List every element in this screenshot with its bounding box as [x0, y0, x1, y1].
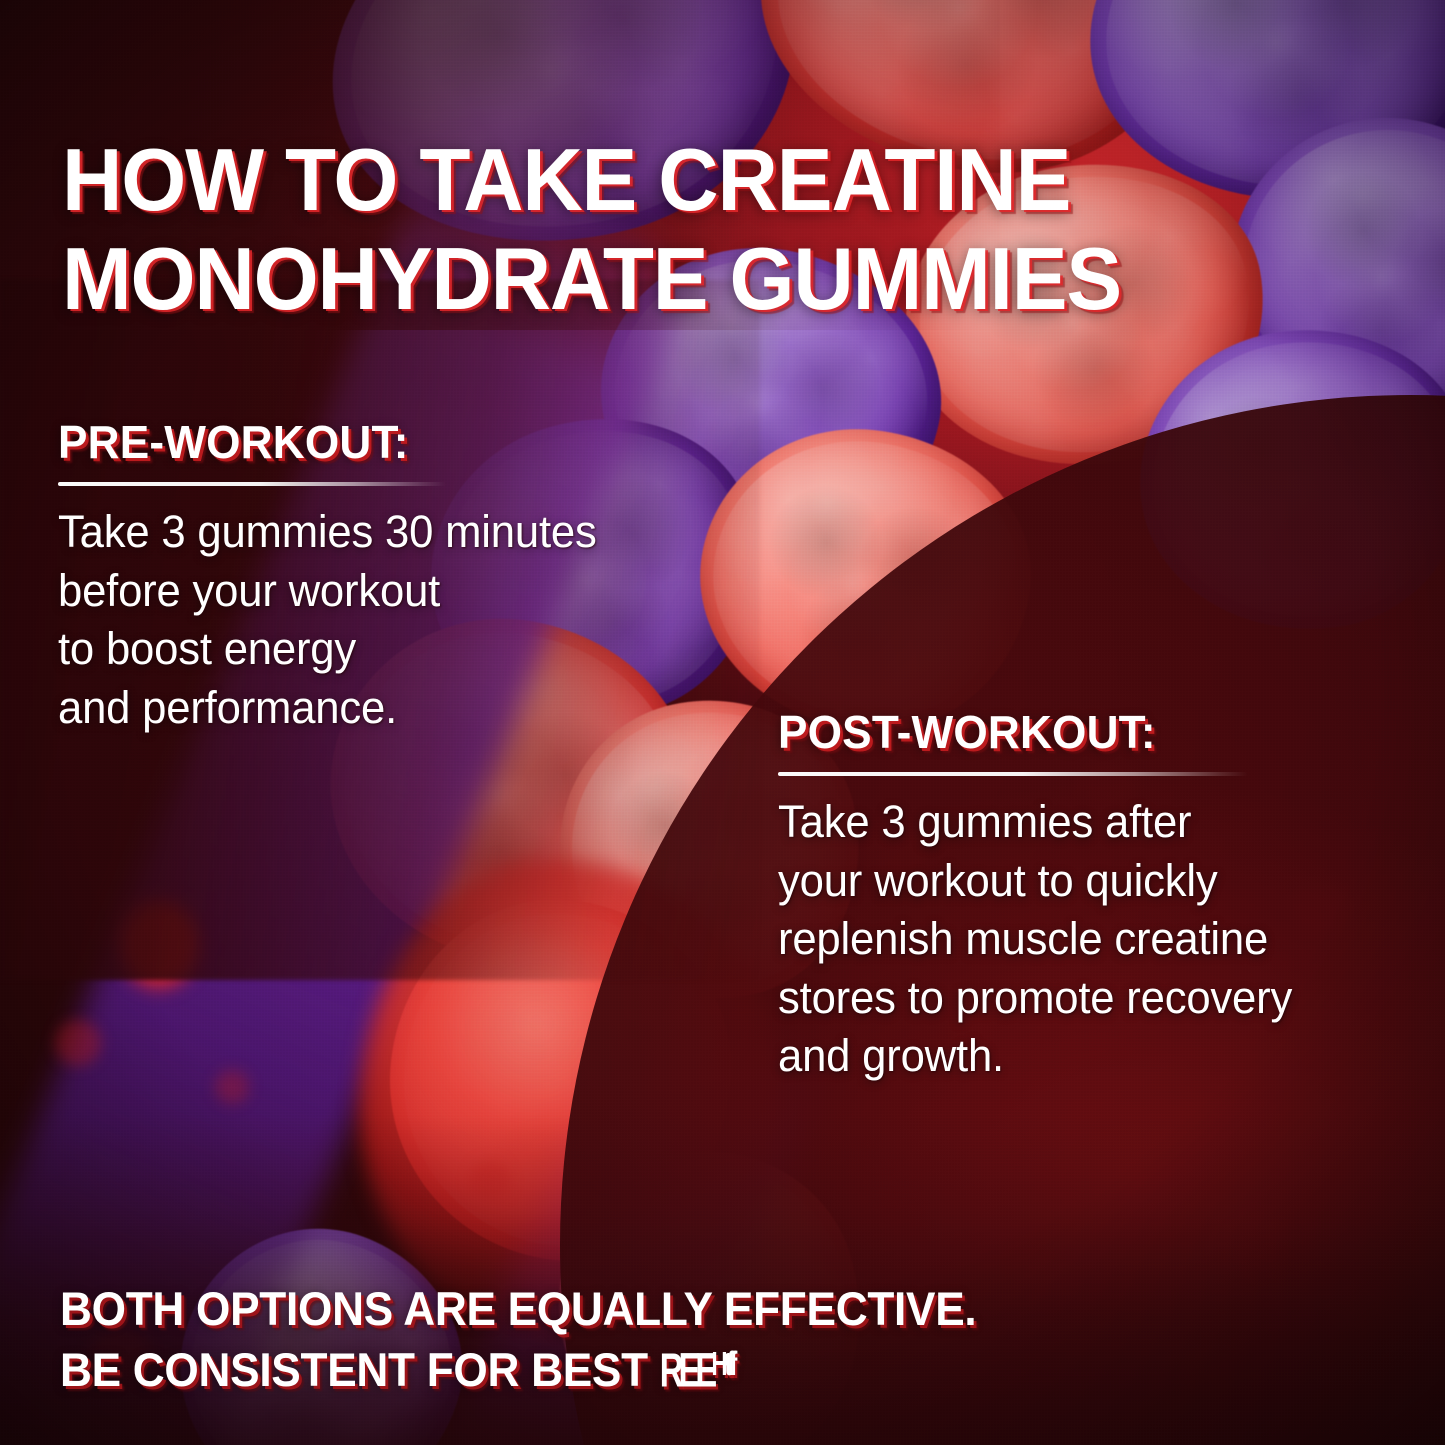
section-body-post-workout: Take 3 gummies after your workout to qui…: [778, 793, 1399, 1086]
body-line: and growth.: [778, 1027, 1399, 1086]
section-body-pre-workout: Take 3 gummies 30 minutes before your wo…: [58, 503, 727, 737]
section-heading-post-workout: POST-WORKOUT:: [778, 705, 1392, 759]
body-line: your workout to quickly: [778, 852, 1399, 911]
body-line: Take 3 gummies 30 minutes: [58, 503, 727, 562]
section-heading-pre-workout: PRE-WORKOUT:: [58, 415, 720, 469]
body-line: Take 3 gummies after: [778, 793, 1399, 852]
footer-line-2: BE CONSISTENT FOR BEST REEᴴ'ᵗᶠᶠ: [60, 1339, 1310, 1400]
poster-canvas: HOW TO TAKE CREATINE MONOHYDRATE GUMMIES…: [0, 0, 1445, 1445]
body-line: stores to promote recovery: [778, 969, 1399, 1028]
body-line: to boost energy: [58, 620, 727, 679]
section-post-workout: POST-WORKOUT: Take 3 gummies after your …: [778, 705, 1418, 1086]
section-divider: [58, 482, 446, 486]
headline-line-2: MONOHYDRATE GUMMIES: [62, 230, 1326, 329]
footer-callout: BOTH OPTIONS ARE EQUALLY EFFECTIVE. BE C…: [60, 1278, 1310, 1400]
footer-line-1: BOTH OPTIONS ARE EQUALLY EFFECTIVE.: [60, 1278, 1310, 1339]
footer-glitched-word: REEᴴ'ᵗᶠᶠ: [660, 1338, 733, 1400]
body-line: before your workout: [58, 562, 727, 621]
section-divider: [778, 772, 1248, 776]
section-pre-workout: PRE-WORKOUT: Take 3 gummies 30 minutes b…: [58, 415, 748, 737]
body-line: replenish muscle creatine: [778, 910, 1399, 969]
headline-line-1: HOW TO TAKE CREATINE: [62, 130, 1070, 229]
footer-line-2-text: BE CONSISTENT FOR BEST: [60, 1343, 660, 1396]
content-layer: HOW TO TAKE CREATINE MONOHYDRATE GUMMIES…: [0, 0, 1445, 1445]
page-title: HOW TO TAKE CREATINE MONOHYDRATE GUMMIES: [62, 131, 1326, 328]
body-line: and performance.: [58, 679, 727, 738]
